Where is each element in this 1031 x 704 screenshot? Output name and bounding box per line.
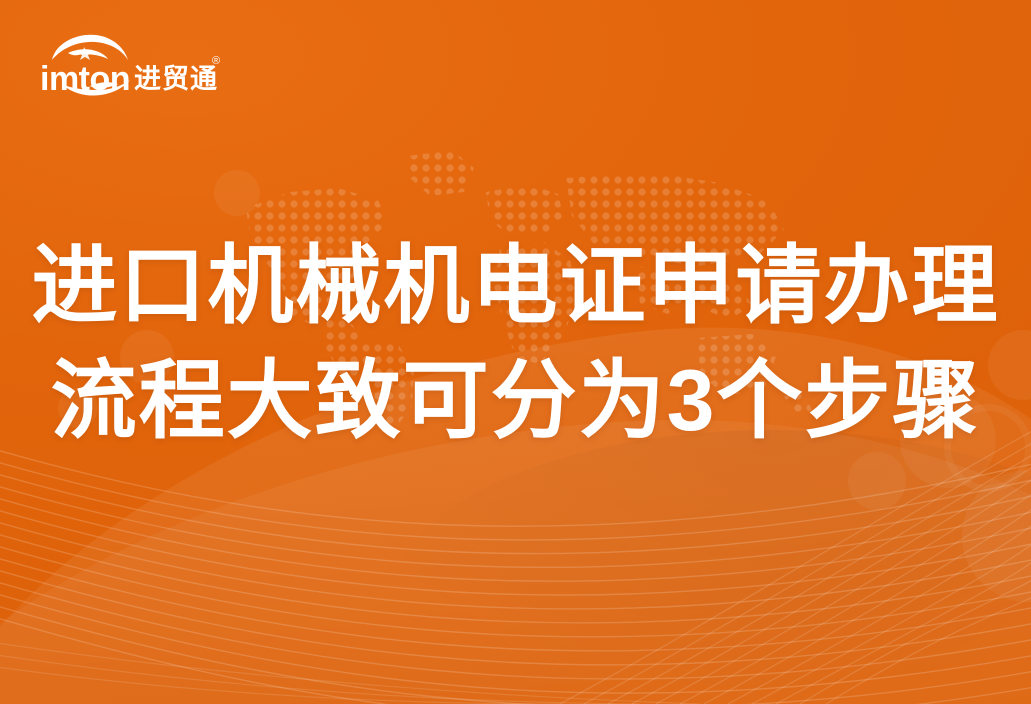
headline-line-1: 进口机械机电证申请办理 [0, 236, 1031, 337]
logo-chinese-name: 进贸通 [134, 64, 218, 94]
page-title: 进口机械机电证申请办理 流程大致可分为3个步骤 [0, 236, 1031, 451]
registered-trademark-icon: ® [212, 55, 220, 67]
svg-text:imton: imton [40, 60, 130, 98]
brand-logo[interactable]: imton 进贸通 ® [38, 28, 228, 102]
headline-line-2: 流程大致可分为3个步骤 [0, 351, 1031, 452]
svg-text:进贸通: 进贸通 [134, 64, 218, 94]
svg-text:®: ® [212, 55, 220, 67]
promo-banner: imton 进贸通 ® 进口机械机电证申请办理 流程大致可分为3个步骤 [0, 0, 1031, 704]
logo-wordmark: imton [40, 60, 130, 98]
